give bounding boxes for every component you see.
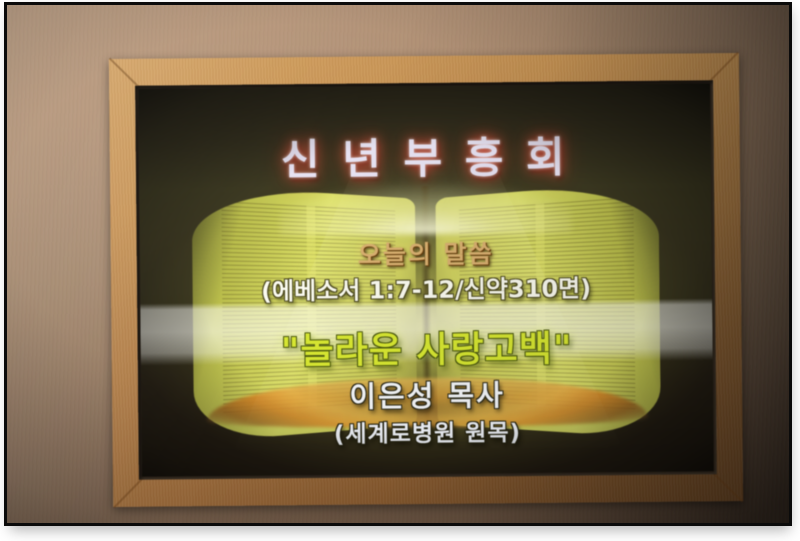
preacher-name: 이은성 목사	[141, 370, 713, 417]
photograph: 신 년 부 흥 회 오늘의 말씀 (에베소서 1:7-12/신약310면) "놀…	[4, 2, 792, 526]
projection-screen: 신 년 부 흥 회 오늘의 말씀 (에베소서 1:7-12/신약310면) "놀…	[138, 83, 714, 476]
slide-text-layer: 신 년 부 흥 회 오늘의 말씀 (에베소서 1:7-12/신약310면) "놀…	[138, 83, 714, 476]
photograph-stage: 신 년 부 흥 회 오늘의 말씀 (에베소서 1:7-12/신약310면) "놀…	[0, 0, 800, 541]
slide-heading: 신 년 부 흥 회	[139, 122, 712, 188]
preacher-affiliation: (세계로병원 원목)	[141, 411, 713, 450]
sermon-title: "놀라운 사랑고백"	[140, 318, 712, 375]
wooden-picture-frame: 신 년 부 흥 회 오늘의 말씀 (에베소서 1:7-12/신약310면) "놀…	[109, 53, 743, 507]
scripture-reference: (에베소서 1:7-12/신약310면)	[140, 268, 712, 308]
frame-inner-bevel: 신 년 부 흥 회 오늘의 말씀 (에베소서 1:7-12/신약310면) "놀…	[135, 80, 717, 480]
